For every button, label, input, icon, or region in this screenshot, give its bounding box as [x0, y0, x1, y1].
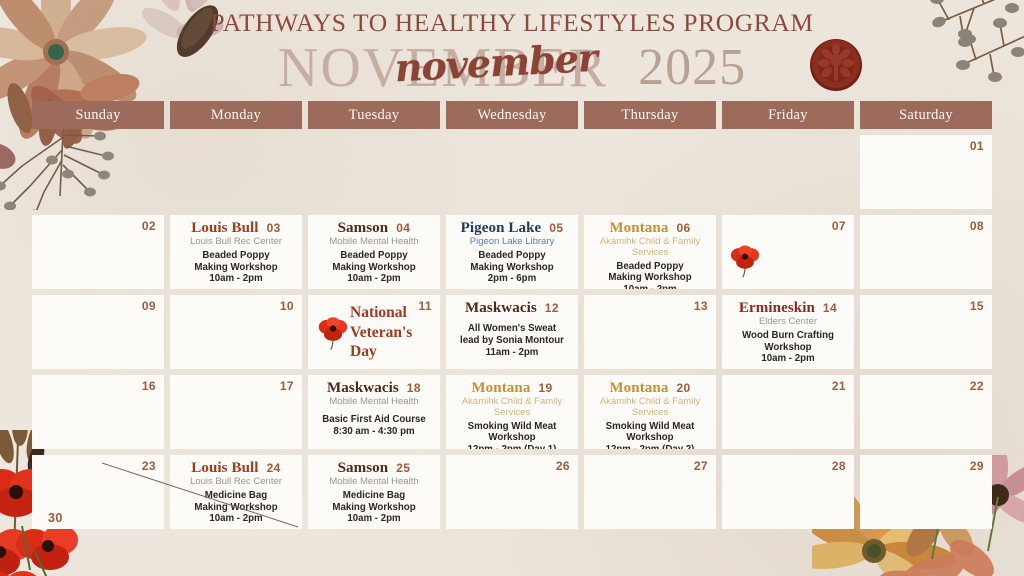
day-number: 14 — [823, 301, 837, 315]
calendar-day-cell-19[interactable]: Montana19Akamihk Child & Family Services… — [446, 375, 578, 449]
calendar-day-cell-07[interactable]: 07 — [722, 215, 854, 289]
event-header: Louis Bull03 — [178, 220, 294, 237]
weekday-header-wednesday: Wednesday — [446, 101, 578, 129]
day-number: 03 — [267, 221, 281, 235]
event-header: Samson04 — [316, 220, 432, 237]
event-header: Montana19 — [454, 380, 570, 397]
calendar-day-cell-empty — [584, 135, 716, 209]
day-number: 09 — [142, 299, 156, 313]
day-number: 06 — [676, 221, 690, 235]
calendar-day-cell-21[interactable]: 21 — [722, 375, 854, 449]
event-location: Mobile Mental Health — [316, 237, 432, 248]
calendar-day-cell-25[interactable]: Samson25Mobile Mental HealthMedicine Bag… — [308, 455, 440, 529]
event-location: Mobile Mental Health — [316, 477, 432, 488]
holiday-block: National Veteran's Day — [316, 300, 432, 365]
event-community-name: Montana — [609, 220, 668, 237]
weekday-header-saturday: Saturday — [860, 101, 992, 129]
day-number: 28 — [832, 459, 846, 473]
day-number: 05 — [549, 221, 563, 235]
calendar-day-cell-09[interactable]: 09 — [32, 295, 164, 369]
event-header: Montana20 — [592, 380, 708, 397]
poppy-icon — [318, 315, 348, 351]
weekday-header-sunday: Sunday — [32, 101, 164, 129]
day-number: 20 — [676, 381, 690, 395]
event-header: Pigeon Lake05 — [454, 220, 570, 237]
event-community-name: Montana — [471, 380, 530, 397]
event-header: Louis Bull24 — [178, 460, 294, 477]
event-location: Akamihk Child & Family Services — [454, 397, 570, 418]
weekday-header-thursday: Thursday — [584, 101, 716, 129]
day-number: 19 — [538, 381, 552, 395]
poppy-icon — [730, 244, 760, 278]
calendar-day-cell-18[interactable]: Maskwacis18Mobile Mental HealthBasic Fir… — [308, 375, 440, 449]
weekday-header-tuesday: Tuesday — [308, 101, 440, 129]
calendar-day-cell-22[interactable]: 22 — [860, 375, 992, 449]
calendar-day-cell-24[interactable]: Louis Bull24Louis Bull Rec CenterMedicin… — [170, 455, 302, 529]
day-number: 24 — [267, 461, 281, 475]
day-number: 11 — [419, 299, 433, 313]
event-location: Louis Bull Rec Center — [178, 477, 294, 488]
calendar-day-cell-08[interactable]: 08 — [860, 215, 992, 289]
calendar-day-cell-12[interactable]: Maskwacis12All Women's Sweat lead by Son… — [446, 295, 578, 369]
event-community-name: Samson — [338, 460, 389, 477]
event-location: Akamihk Child & Family Services — [592, 237, 708, 258]
event-details: Medicine Bag Making Workshop 10am - 2pm — [316, 490, 432, 525]
weekday-header-friday: Friday — [722, 101, 854, 129]
day-number: 15 — [970, 299, 984, 313]
event-details: Beaded Poppy Making Workshop 2pm - 6pm — [454, 250, 570, 285]
calendar-day-cell-empty — [308, 135, 440, 209]
calendar-grid: SundayMondayTuesdayWednesdayThursdayFrid… — [32, 101, 992, 529]
poppy-decoration — [730, 244, 760, 283]
event-header: Montana06 — [592, 220, 708, 237]
calendar-day-cell-14[interactable]: Ermineskin14Elders CenterWood Burn Craft… — [722, 295, 854, 369]
calendar-day-cell-29[interactable]: 29 — [860, 455, 992, 529]
event-community-name: Samson — [338, 220, 389, 237]
calendar-week-row: 0910National Veteran's Day11Maskwacis12A… — [32, 295, 992, 369]
month-year-block: NOVEMBER 2025 november — [0, 39, 1024, 97]
event-header: Maskwacis12 — [454, 300, 570, 317]
event-location: Akamihk Child & Family Services — [592, 397, 708, 418]
event-details: Basic First Aid Course 8:30 am - 4:30 pm — [316, 414, 432, 437]
calendar-week-row: 02Louis Bull03Louis Bull Rec CenterBeade… — [32, 215, 992, 289]
event-community-name: Pigeon Lake — [461, 220, 542, 237]
event-details: All Women's Sweat lead by Sonia Montour … — [454, 323, 570, 358]
event-community-name: Louis Bull — [191, 460, 258, 477]
day-number: 02 — [142, 219, 156, 233]
event-details: Medicine Bag Making Workshop 10am - 2pm — [178, 490, 294, 525]
day-number: 29 — [970, 459, 984, 473]
event-community-name: Ermineskin — [739, 300, 815, 317]
event-details: Beaded Poppy Making Workshop 10am - 2pm — [178, 250, 294, 285]
event-community-name: Maskwacis — [465, 300, 537, 317]
day-number: 17 — [280, 379, 294, 393]
event-location: Louis Bull Rec Center — [178, 237, 294, 248]
calendar-day-cell-17[interactable]: 17 — [170, 375, 302, 449]
calendar-day-cell-26[interactable]: 26 — [446, 455, 578, 529]
calendar-day-cell-10[interactable]: 10 — [170, 295, 302, 369]
calendar-day-cell-20[interactable]: Montana20Akamihk Child & Family Services… — [584, 375, 716, 449]
day-number: 27 — [694, 459, 708, 473]
event-header: Samson25 — [316, 460, 432, 477]
calendar-day-cell-11[interactable]: National Veteran's Day11 — [308, 295, 440, 369]
event-community-name: Louis Bull — [191, 220, 258, 237]
weekday-header-row: SundayMondayTuesdayWednesdayThursdayFrid… — [32, 101, 992, 129]
calendar-day-cell-empty — [446, 135, 578, 209]
calendar-week-row: 23Louis Bull24Louis Bull Rec CenterMedic… — [32, 455, 992, 529]
calendar-day-cell-06[interactable]: Montana06Akamihk Child & Family Services… — [584, 215, 716, 289]
day-number: 13 — [694, 299, 708, 313]
calendar-week-row: 01 — [32, 135, 992, 209]
calendar-day-cell-03[interactable]: Louis Bull03Louis Bull Rec CenterBeaded … — [170, 215, 302, 289]
calendar-week-row: 1617Maskwacis18Mobile Mental HealthBasic… — [32, 375, 992, 449]
calendar-page: PATHWAYS TO HEALTHY LIFESTYLES PROGRAM N… — [0, 0, 1024, 576]
event-details: Smoking Wild Meat Workshop 12pm - 2pm (D… — [592, 421, 708, 450]
day-number: 07 — [832, 219, 846, 233]
day-number: 25 — [396, 461, 410, 475]
day-number: 21 — [832, 379, 846, 393]
event-details: Wood Burn Crafting Workshop 10am - 2pm — [730, 330, 846, 365]
calendar-day-cell-empty — [32, 135, 164, 209]
day-number: 26 — [556, 459, 570, 473]
calendar-day-cell-27[interactable]: 27 — [584, 455, 716, 529]
calendar-day-cell-01[interactable]: 01 — [860, 135, 992, 209]
event-community-name: Maskwacis — [327, 380, 399, 397]
calendar-day-cell-16[interactable]: 16 — [32, 375, 164, 449]
day-number-30: 30 — [48, 511, 63, 525]
event-details: Beaded Poppy Making Workshop 10am - 2pm — [316, 250, 432, 285]
year-label: 2025 — [638, 42, 746, 94]
day-number: 01 — [970, 139, 984, 153]
calendar-day-cell-05[interactable]: Pigeon Lake05Pigeon Lake LibraryBeaded P… — [446, 215, 578, 289]
page-title: PATHWAYS TO HEALTHY LIFESTYLES PROGRAM — [0, 8, 1024, 38]
event-location: Pigeon Lake Library — [454, 237, 570, 248]
event-header: Maskwacis18 — [316, 380, 432, 397]
day-number: 16 — [142, 379, 156, 393]
calendar-day-cell-04[interactable]: Samson04Mobile Mental HealthBeaded Poppy… — [308, 215, 440, 289]
day-number: 04 — [396, 221, 410, 235]
day-number: 08 — [970, 219, 984, 233]
day-number: 10 — [280, 299, 294, 313]
calendar-day-cell-empty — [170, 135, 302, 209]
event-details: Smoking Wild Meat Workshop 12pm - 2pm (D… — [454, 421, 570, 450]
event-community-name: Montana — [609, 380, 668, 397]
calendar-day-cell-15[interactable]: 15 — [860, 295, 992, 369]
calendar-day-cell-empty — [722, 135, 854, 209]
day-number: 18 — [407, 381, 421, 395]
day-number: 22 — [970, 379, 984, 393]
event-location: Elders Center — [730, 317, 846, 328]
event-location: Mobile Mental Health — [316, 397, 432, 408]
event-header: Ermineskin14 — [730, 300, 846, 317]
day-number: 23 — [142, 459, 156, 473]
calendar-weeks: 0102Louis Bull03Louis Bull Rec CenterBea… — [32, 135, 992, 529]
calendar-header: PATHWAYS TO HEALTHY LIFESTYLES PROGRAM N… — [0, 4, 1024, 100]
calendar-day-cell-13[interactable]: 13 — [584, 295, 716, 369]
weekday-header-monday: Monday — [170, 101, 302, 129]
calendar-day-cell-02[interactable]: 02 — [32, 215, 164, 289]
event-details: Beaded Poppy Making Workshop 10am - 2pm — [592, 261, 708, 290]
calendar-day-cell-28[interactable]: 28 — [722, 455, 854, 529]
day-number: 12 — [545, 301, 559, 315]
